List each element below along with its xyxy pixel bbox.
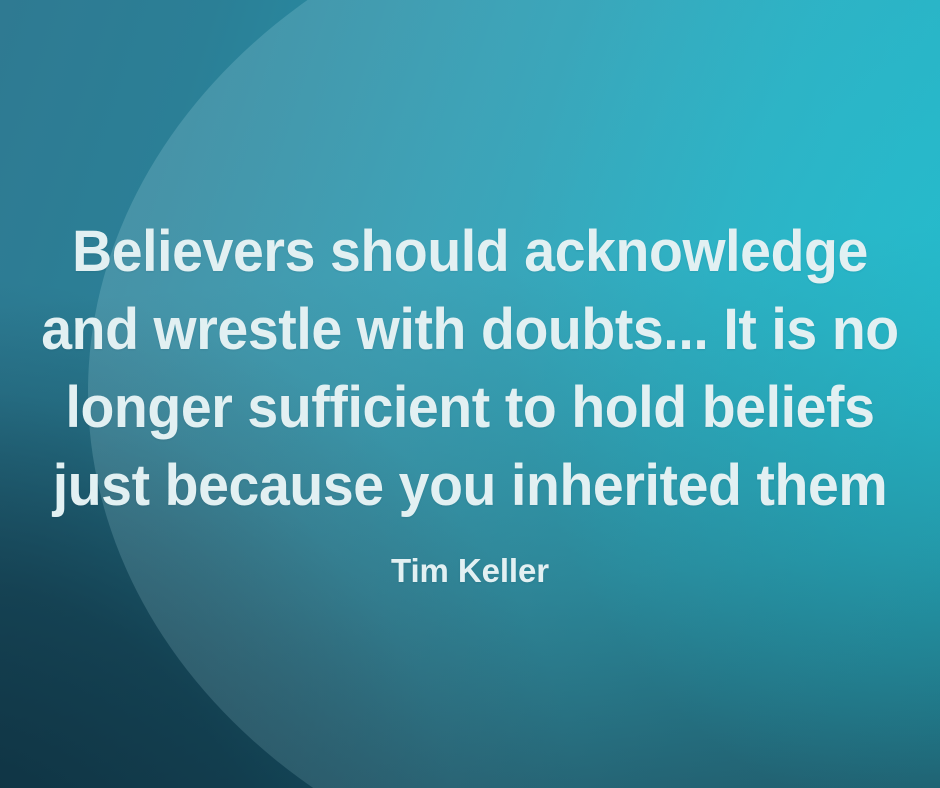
quote-card: Believers should acknowledge and wrestle…: [0, 0, 940, 788]
quote-text: Believers should acknowledge and wrestle…: [20, 213, 920, 525]
quote-line-1: Believers should acknowledge: [40, 213, 900, 291]
quote-line-3: longer sufficient to hold beliefs: [40, 369, 900, 447]
quote-line-2: and wrestle with doubts... It is no: [40, 291, 900, 369]
quote-author: Tim Keller: [391, 549, 549, 593]
quote-block: Believers should acknowledge and wrestle…: [0, 0, 940, 788]
quote-line-4: just because you inherited them: [40, 447, 900, 525]
